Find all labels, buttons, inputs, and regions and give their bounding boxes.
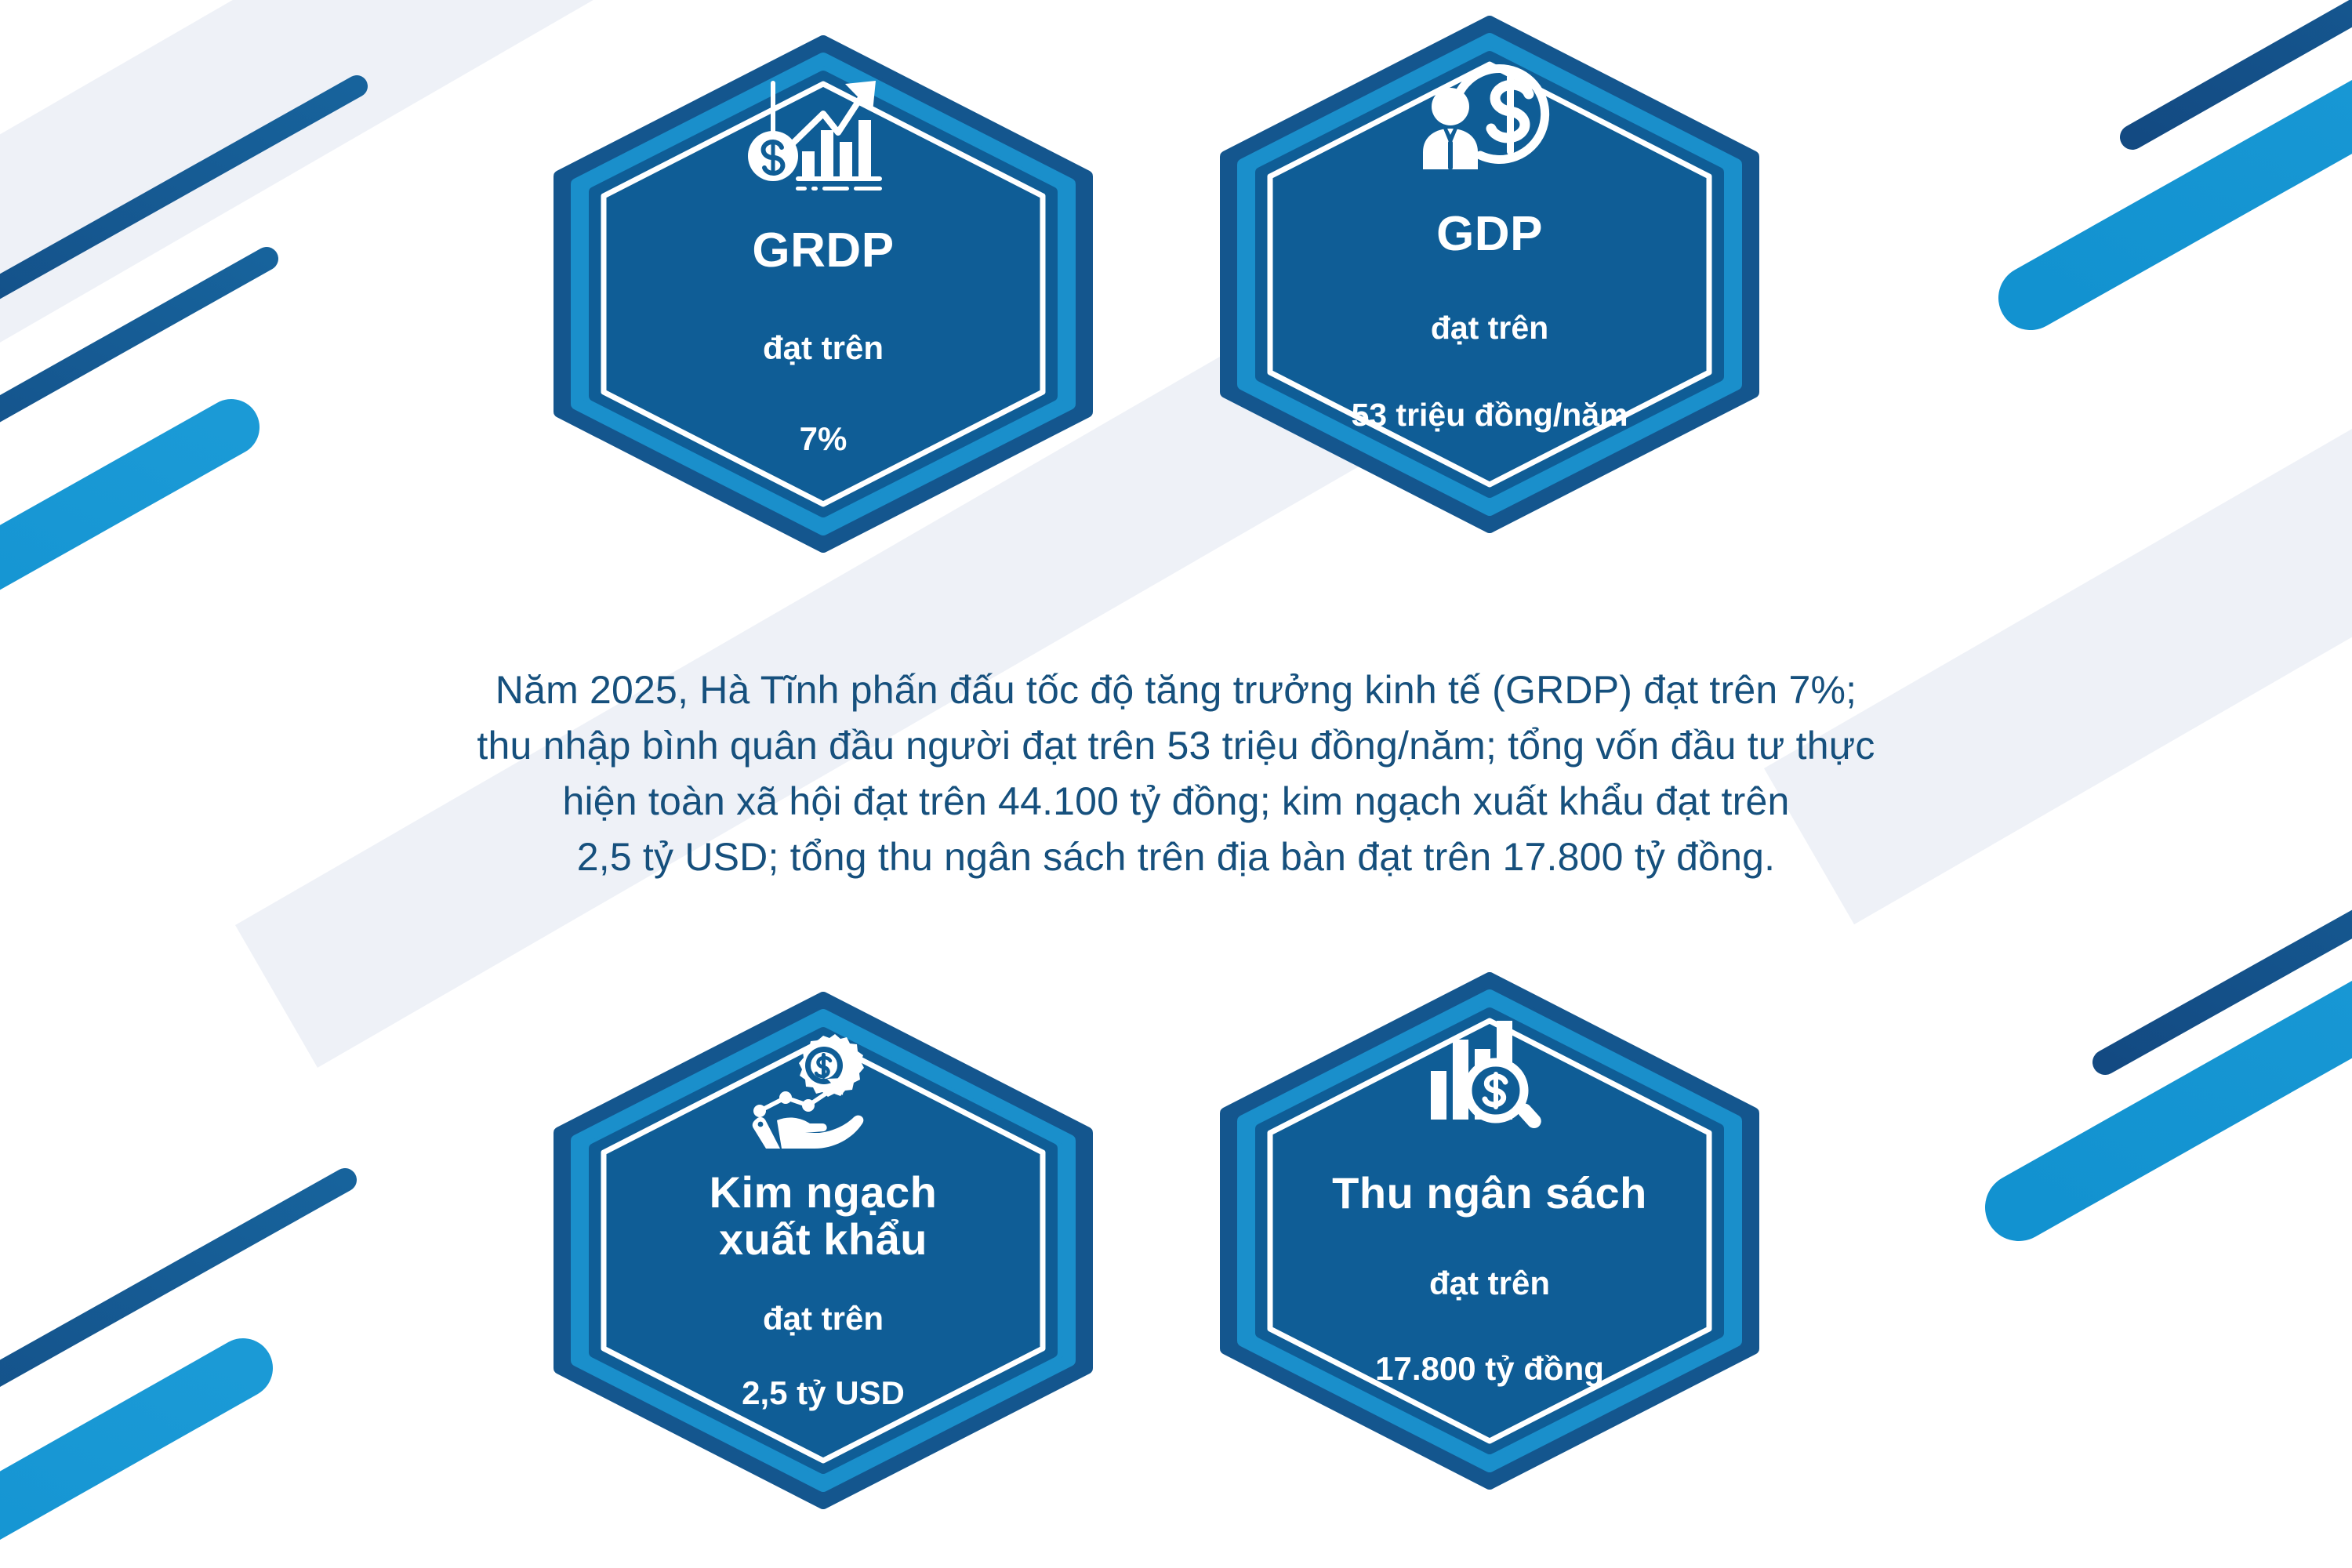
card-title: GDP [1436, 209, 1543, 260]
card-title: Kim ngạch xuất khẩu [710, 1169, 938, 1263]
businessman-dollar-icon [1407, 53, 1572, 179]
card-subtitle-line1: đạt trên [763, 328, 884, 368]
growth-chart-dollar-icon [741, 73, 906, 198]
card-subtitle-line1: đạt trên [1431, 309, 1548, 347]
stat-card-gdp[interactable]: GDP đạt trên 53 triệu đồng/năm [1215, 16, 1764, 533]
hand-gear-dollar-growth-icon [741, 1029, 906, 1155]
stat-card-grdp[interactable]: GRDP đạt trên 7% [549, 35, 1098, 553]
card-subtitle-line2: 7% [800, 419, 848, 459]
summary-line-2: thu nhập bình quân đầu người đạt trên 53… [282, 718, 2070, 774]
card-title: Thu ngân sách [1332, 1170, 1647, 1217]
card-subtitle-line2: 2,5 tỷ USD [742, 1374, 905, 1413]
card-subtitle-line2: 53 triệu đồng/năm [1351, 396, 1628, 434]
stat-card-export-turnover[interactable]: Kim ngạch xuất khẩu đạt trên 2,5 tỷ USD [549, 992, 1098, 1509]
bar-chart-magnifier-dollar-icon [1407, 1010, 1572, 1135]
card-title: GRDP [752, 225, 894, 277]
summary-paragraph: Năm 2025, Hà Tĩnh phấn đấu tốc độ tăng t… [282, 662, 2070, 885]
card-subtitle-line2: 17.800 tỷ đồng [1375, 1349, 1604, 1388]
summary-line-1: Năm 2025, Hà Tĩnh phấn đấu tốc độ tăng t… [282, 662, 2070, 718]
summary-line-4: 2,5 tỷ USD; tổng thu ngân sách trên địa … [282, 829, 2070, 885]
card-subtitle-line1: đạt trên [1429, 1264, 1550, 1303]
summary-line-3: hiện toàn xã hội đạt trên 44.100 tỷ đồng… [282, 774, 2070, 829]
card-subtitle-line1: đạt trên [763, 1299, 884, 1338]
stat-card-budget-revenue[interactable]: Thu ngân sách đạt trên 17.800 tỷ đồng [1215, 972, 1764, 1490]
